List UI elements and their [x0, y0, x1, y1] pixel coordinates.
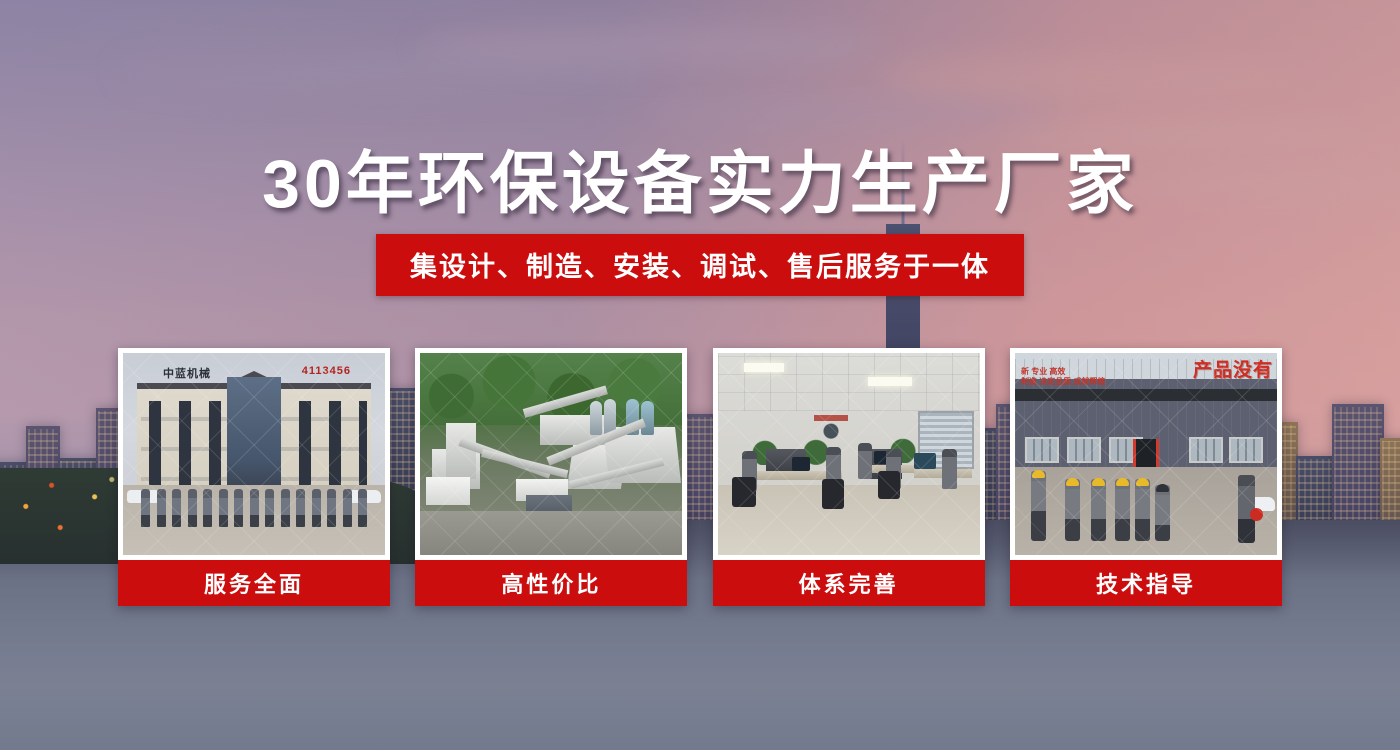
card-label: 服务全面	[118, 560, 390, 606]
feature-card[interactable]: 高性价比	[415, 348, 687, 606]
workshop-training-photo: 产品没有 新 专业 高效制造 决定品质 成就辉煌	[1015, 353, 1277, 555]
photo-phone-text: 4113456	[302, 365, 351, 377]
photo-sign-text: 中蓝机械	[163, 365, 211, 381]
office-team-photo	[718, 353, 980, 555]
card-label: 技术指导	[1010, 560, 1282, 606]
company-headquarters-photo: 中蓝机械 4113456	[123, 353, 385, 555]
promo-banner: 30年环保设备实力生产厂家 集设计、制造、安装、调试、售后服务于一体 中蓝机械 …	[0, 0, 1400, 750]
feature-card[interactable]: 产品没有 新 专业 高效制造 决定品质 成就辉煌	[1010, 348, 1282, 606]
photo-slogan-text: 产品没有	[1193, 355, 1273, 382]
card-label: 体系完善	[713, 560, 985, 606]
feature-card[interactable]: 体系完善	[713, 348, 985, 606]
subtitle-text: 集设计、制造、安装、调试、售后服务于一体	[376, 234, 1024, 296]
feature-card-row: 中蓝机械 4113456 服务全面	[118, 348, 1282, 606]
subtitle-banner: 集设计、制造、安装、调试、售后服务于一体	[0, 234, 1400, 296]
photo-slogan-small: 新 专业 高效制造 决定品质 成就辉煌	[1021, 367, 1105, 387]
cloud-band	[60, 14, 400, 44]
card-label: 高性价比	[415, 560, 687, 606]
production-plant-aerial-photo	[420, 353, 682, 555]
cloud-band	[880, 56, 1300, 100]
cloud-band	[420, 26, 880, 66]
page-title: 30年环保设备实力生产厂家	[0, 128, 1400, 227]
cloud-band	[640, 96, 1060, 128]
feature-card[interactable]: 中蓝机械 4113456 服务全面	[118, 348, 390, 606]
